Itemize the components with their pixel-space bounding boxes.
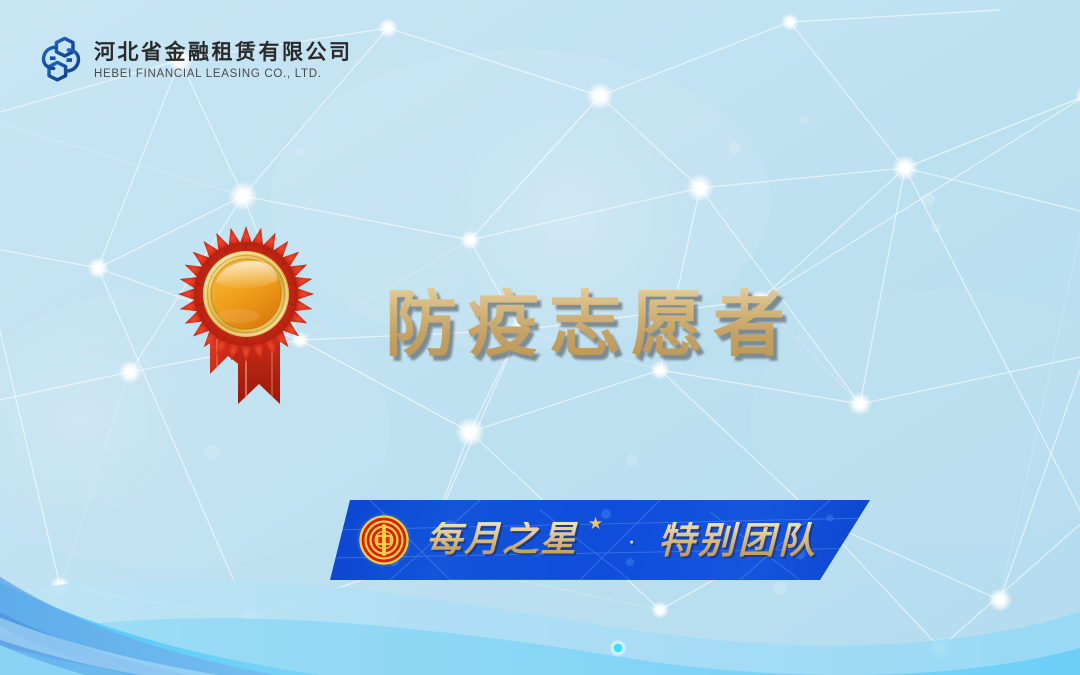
award-category-banner: 每月之星 ★ · 特别团队 [330, 500, 870, 580]
slide-canvas: 河北省金融租赁有限公司 HEBEI FINANCIAL LEASING CO.,… [0, 0, 1080, 675]
hexagon-interlock-logo-icon [38, 36, 84, 86]
banner-label-star-of-month: 每月之星 [426, 522, 578, 558]
banner-content: 每月之星 ★ · 特别团队 [330, 500, 870, 580]
company-name-group: 河北省金融租赁有限公司 HEBEI FINANCIAL LEASING CO.,… [94, 40, 353, 82]
company-name-en: HEBEI FINANCIAL LEASING CO., LTD. [94, 67, 353, 82]
star-icon: ★ [588, 514, 603, 534]
company-logo-block: 河北省金融租赁有限公司 HEBEI FINANCIAL LEASING CO.,… [38, 36, 353, 86]
banner-separator: · [627, 527, 636, 553]
company-name-cn: 河北省金融租赁有限公司 [94, 40, 353, 65]
all-china-federation-trade-unions-emblem-icon [356, 512, 412, 568]
banner-label-special-team: 特别团队 [658, 522, 818, 559]
award-rosette-ribbon-icon [176, 224, 316, 410]
page-title: 防疫志愿者 [385, 288, 795, 360]
